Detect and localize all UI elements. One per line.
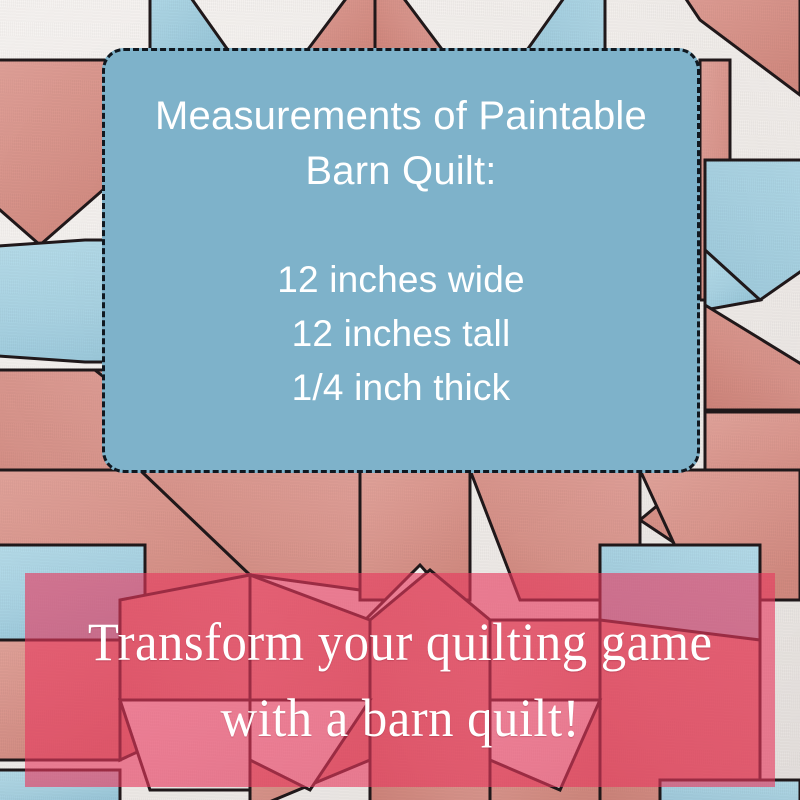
measurement-list: 12 inches wide 12 inches tall 1/4 inch t… (105, 253, 697, 415)
card-heading-block: Measurements of Paintable Barn Quilt: (105, 51, 697, 199)
measurements-card: Measurements of Paintable Barn Quilt: 12… (102, 48, 700, 473)
tagline-banner: Transform your quilting game with a barn… (25, 573, 775, 787)
tagline-text: Transform your quilting game with a barn… (88, 604, 713, 756)
card-heading: Measurements of Paintable Barn Quilt: (105, 89, 697, 199)
measurement-item-height: 12 inches tall (105, 307, 697, 361)
measurement-item-width: 12 inches wide (105, 253, 697, 307)
infographic-canvas: Measurements of Paintable Barn Quilt: 12… (0, 0, 800, 800)
measurement-item-thickness: 1/4 inch thick (105, 361, 697, 415)
